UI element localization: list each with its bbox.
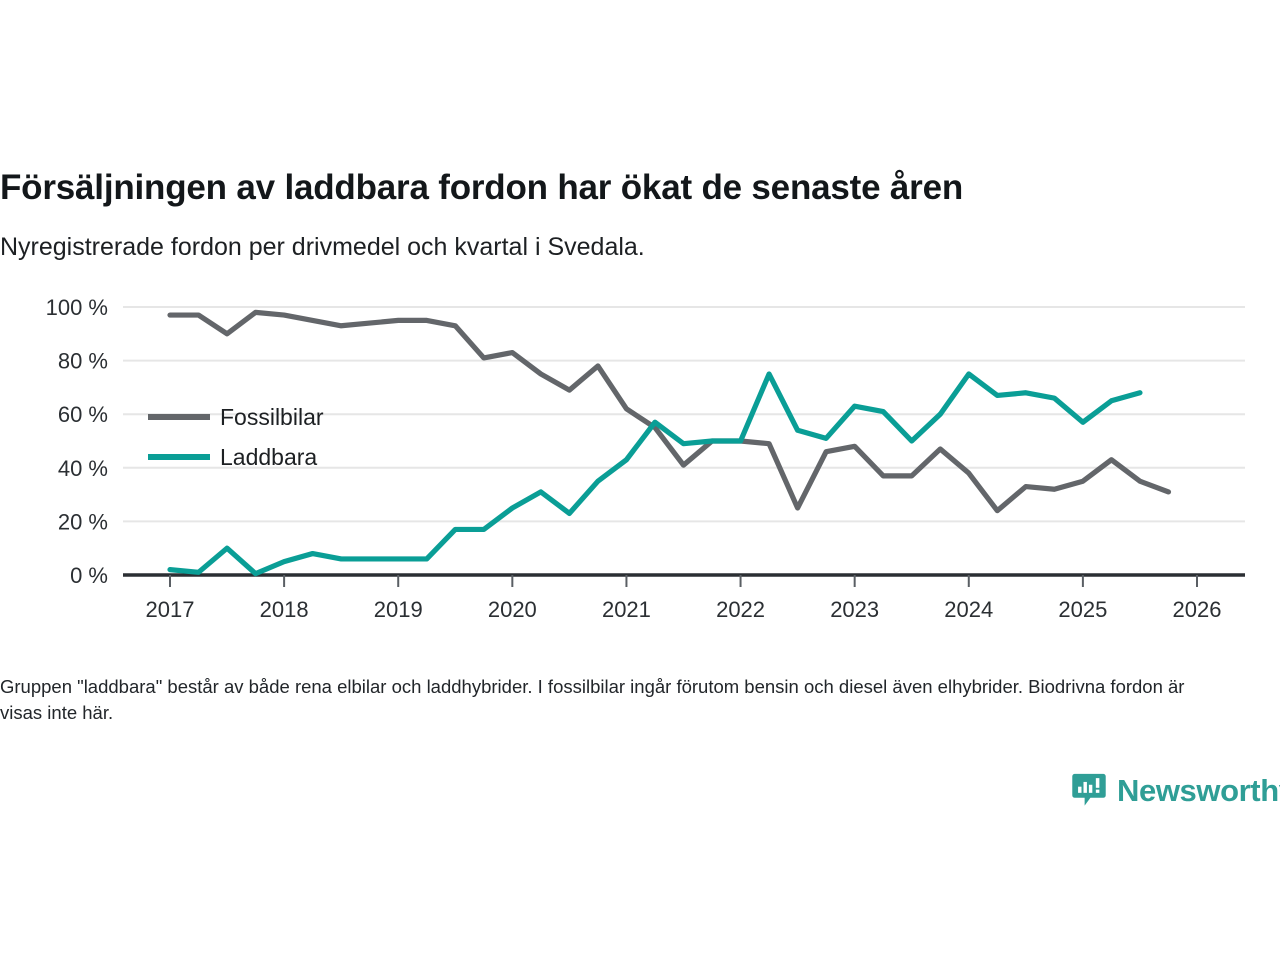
- newsworthy-logo: Newsworthy: [1070, 771, 1280, 809]
- speech-bubble-bar-chart-icon: [1070, 771, 1108, 809]
- line-chart: 0 %20 %40 %60 %80 %100 % 201720182019202…: [0, 285, 1280, 630]
- x-axis-tick-label: 2026: [1173, 597, 1222, 622]
- y-axis-tick-label: 20 %: [58, 509, 108, 534]
- y-axis-tick-label: 60 %: [58, 402, 108, 427]
- x-axis-tick-label: 2023: [830, 597, 879, 622]
- chart-page: Försäljningen av laddbara fordon har öka…: [0, 0, 1280, 960]
- chart-svg: 0 %20 %40 %60 %80 %100 % 201720182019202…: [0, 285, 1280, 630]
- x-axis-tick-label: 2018: [260, 597, 309, 622]
- y-axis-tick-label: 0 %: [70, 563, 108, 588]
- x-axis-tick-label: 2022: [716, 597, 765, 622]
- page-title: Försäljningen av laddbara fordon har öka…: [0, 168, 1240, 208]
- chart-y-axis-labels: 0 %20 %40 %60 %80 %100 %: [46, 295, 108, 588]
- x-axis-tick-label: 2017: [146, 597, 195, 622]
- y-axis-tick-label: 100 %: [46, 295, 108, 320]
- x-axis-tick-label: 2020: [488, 597, 537, 622]
- y-axis-tick-label: 80 %: [58, 349, 108, 374]
- page-subtitle: Nyregistrerade fordon per drivmedel och …: [0, 232, 1240, 262]
- x-axis-tick-label: 2025: [1058, 597, 1107, 622]
- legend-label: Fossilbilar: [220, 404, 324, 430]
- chart-x-axis-labels: 2017201820192020202120222023202420252026: [146, 597, 1222, 622]
- x-axis-tick-label: 2021: [602, 597, 651, 622]
- legend-label: Laddbara: [220, 444, 317, 470]
- x-axis-tick-label: 2019: [374, 597, 423, 622]
- brand-name: Newsworthy: [1117, 775, 1280, 806]
- chart-x-axis: [123, 575, 1245, 587]
- chart-footnote: Gruppen "laddbara" består av både rena e…: [0, 674, 1215, 725]
- x-axis-tick-label: 2024: [944, 597, 993, 622]
- chart-series: [170, 312, 1168, 573]
- y-axis-tick-label: 40 %: [58, 456, 108, 481]
